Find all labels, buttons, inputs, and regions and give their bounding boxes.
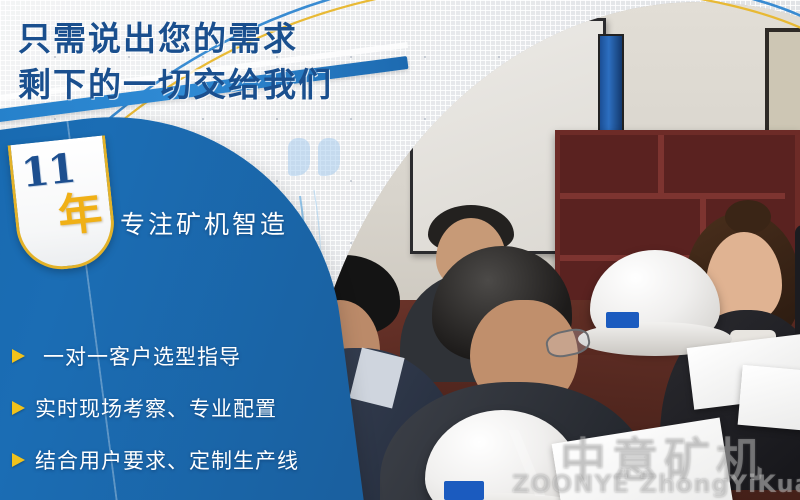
headline-line-1: 只需说出您的需求 [18,16,333,62]
badge-unit: 年 [54,176,104,244]
list-item-label: 实时现场考察、专业配置 [35,393,277,423]
arrow-marker-icon [12,401,25,415]
feature-list: 一对一客户选型指导 实时现场考察、专业配置 结合用户要求、定制生产线 [12,330,312,486]
headline-line-2: 剩下的一切交给我们 [18,62,333,108]
quote-mark-icon [288,138,346,184]
list-item: 一对一客户选型指导 [12,330,312,382]
tagline: 专注矿机智造 [120,205,288,241]
list-item: 实时现场考察、专业配置 [12,382,312,434]
arrow-marker-icon [12,349,25,363]
arrow-marker-icon [12,453,25,467]
list-item: 结合用户要求、定制生产线 [12,434,312,486]
list-item-label: 一对一客户选型指导 [43,341,241,371]
list-item-label: 结合用户要求、定制生产线 [35,445,299,475]
promo-banner: 11 年 只需说出您的需求 剩下的一切交给我们 专注矿机智造 一对一客户选型指导… [0,0,800,500]
headline-block: 只需说出您的需求 剩下的一切交给我们 [18,16,333,108]
